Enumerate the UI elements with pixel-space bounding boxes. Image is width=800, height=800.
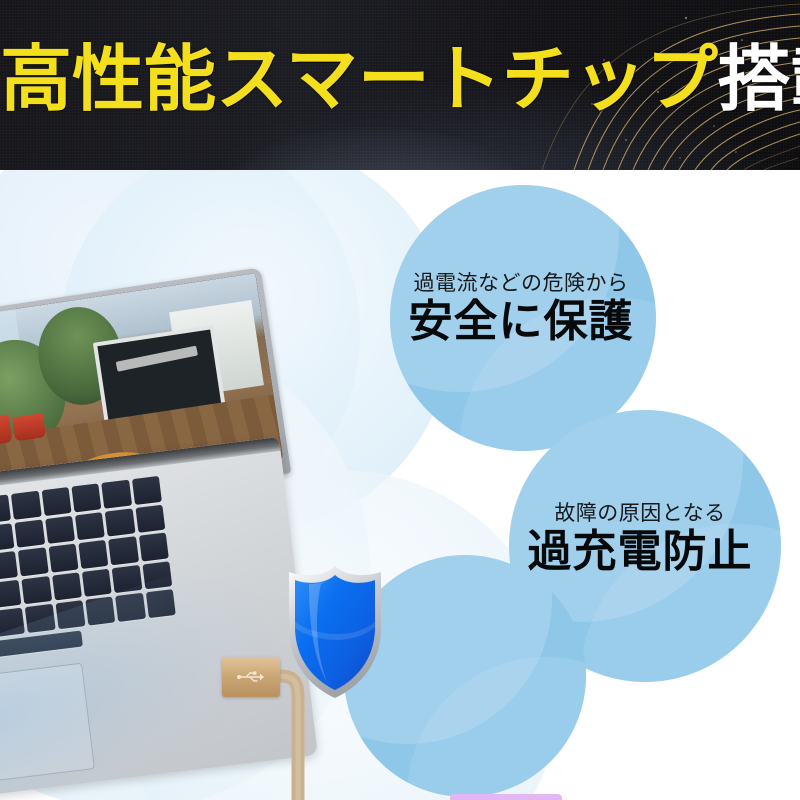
wallpaper-red-pot-2 xyxy=(12,413,46,442)
keyboard-key xyxy=(82,568,112,597)
laptop-base xyxy=(0,437,318,800)
keyboard-key xyxy=(132,476,162,505)
header-banner: 高性能スマートチップ搭載 xyxy=(0,0,800,170)
keyboard-key xyxy=(41,487,71,516)
keyboard-key xyxy=(48,544,78,573)
feature-text-overcharge: 故障の原因となる 過充電防止 xyxy=(470,500,800,578)
usb-trident-icon xyxy=(236,670,266,684)
shield-icon xyxy=(285,562,385,702)
gold-usb-connector xyxy=(222,657,280,697)
feature-headline-protect: 安全に保護 xyxy=(356,296,686,348)
feature-headline-overcharge: 過充電防止 xyxy=(470,526,800,578)
keyboard-key xyxy=(0,494,11,523)
keyboard-key xyxy=(102,480,132,509)
keyboard-key xyxy=(105,508,135,537)
keyboard-key xyxy=(52,572,82,601)
keyboard-key xyxy=(0,580,22,609)
purple-braided-usb-cable xyxy=(332,782,580,800)
keyboard-key xyxy=(139,533,169,562)
banner-title: 高性能スマートチップ搭載 xyxy=(0,36,800,122)
keyboard-key xyxy=(45,515,75,544)
keyboard-key xyxy=(0,523,15,552)
banner-title-rest: 搭載 xyxy=(718,37,800,121)
keyboard-key xyxy=(78,540,108,569)
keyboard-key xyxy=(75,512,105,541)
keyboard-key xyxy=(0,551,18,580)
keyboard-key xyxy=(18,547,48,576)
product-promo-image: 高性能スマートチップ搭載 xyxy=(0,0,800,800)
banner-title-highlight: 高性能スマートチップ xyxy=(0,37,718,121)
keyboard-key xyxy=(135,504,165,533)
keyboard-key xyxy=(11,491,41,520)
keyboard-key xyxy=(109,536,139,565)
keyboard-key xyxy=(15,519,45,548)
feature-subtitle-overcharge: 故障の原因となる xyxy=(470,500,800,526)
feature-subtitle-protect: 過電流などの危険から xyxy=(356,270,686,296)
keyboard-key xyxy=(71,483,101,512)
feature-canvas xyxy=(0,170,800,800)
keyboard-key xyxy=(22,576,52,605)
feature-text-protect: 過電流などの危険から 安全に保護 xyxy=(356,270,686,348)
